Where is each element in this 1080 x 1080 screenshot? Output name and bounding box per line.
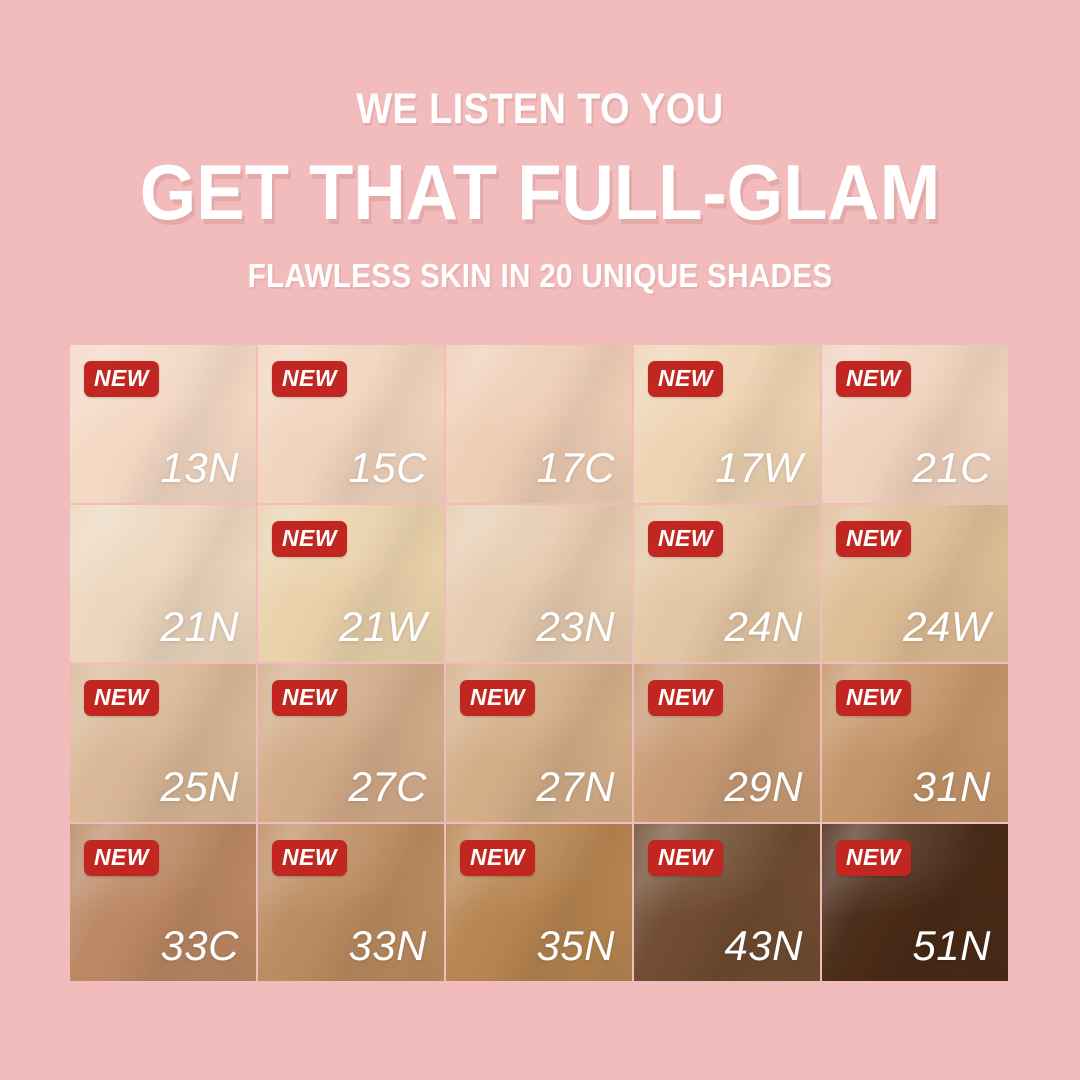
shade-label: 29N [724, 766, 803, 808]
shade-swatch[interactable]: 23N [446, 505, 632, 663]
shade-swatch[interactable]: NEW27N [446, 664, 632, 822]
shade-swatch[interactable]: NEW43N [634, 824, 820, 982]
shade-swatch[interactable]: NEW25N [70, 664, 256, 822]
shade-swatch[interactable]: NEW33N [258, 824, 444, 982]
new-badge: NEW [272, 361, 347, 397]
promo-header: WE LISTEN TO YOU GET THAT FULL-GLAM FLAW… [0, 0, 1080, 292]
new-badge: NEW [272, 680, 347, 716]
shade-swatch[interactable]: 21N [70, 505, 256, 663]
shade-label: 35N [536, 925, 615, 967]
new-badge: NEW [272, 840, 347, 876]
shade-swatch[interactable]: 17C [446, 345, 632, 503]
new-badge: NEW [84, 361, 159, 397]
new-badge: NEW [836, 521, 911, 557]
shade-label: 17C [536, 447, 615, 489]
shade-swatch[interactable]: NEW24N [634, 505, 820, 663]
shade-swatch[interactable]: NEW17W [634, 345, 820, 503]
new-badge: NEW [648, 840, 723, 876]
shade-label: 33C [160, 925, 239, 967]
shade-label: 33N [348, 925, 427, 967]
shade-swatch[interactable]: NEW31N [822, 664, 1008, 822]
shade-label: 31N [912, 766, 991, 808]
new-badge: NEW [648, 680, 723, 716]
shade-swatch[interactable]: NEW51N [822, 824, 1008, 982]
shade-label: 24W [903, 606, 991, 648]
new-badge: NEW [272, 521, 347, 557]
shade-label: 51N [912, 925, 991, 967]
header-headline: GET THAT FULL-GLAM [38, 153, 1042, 231]
shade-swatch[interactable]: NEW33C [70, 824, 256, 982]
header-eyebrow: WE LISTEN TO YOU [65, 88, 1015, 131]
shade-swatch[interactable]: NEW24W [822, 505, 1008, 663]
shade-swatch[interactable]: NEW15C [258, 345, 444, 503]
shade-label: 13N [160, 447, 239, 489]
new-badge: NEW [836, 361, 911, 397]
shade-swatch[interactable]: NEW21W [258, 505, 444, 663]
new-badge: NEW [84, 840, 159, 876]
shade-label: 21C [912, 447, 991, 489]
shade-swatch-grid: NEW13NNEW15C17CNEW17WNEW21C21NNEW21W23NN… [70, 345, 1008, 981]
shade-swatch[interactable]: NEW21C [822, 345, 1008, 503]
shade-label: 15C [348, 447, 427, 489]
new-badge: NEW [648, 361, 723, 397]
shade-swatch[interactable]: NEW35N [446, 824, 632, 982]
shade-label: 43N [724, 925, 803, 967]
new-badge: NEW [836, 680, 911, 716]
shade-label: 21N [160, 606, 239, 648]
shade-swatch[interactable]: NEW27C [258, 664, 444, 822]
shade-label: 23N [536, 606, 615, 648]
new-badge: NEW [648, 521, 723, 557]
new-badge: NEW [836, 840, 911, 876]
shade-swatch[interactable]: NEW29N [634, 664, 820, 822]
shade-swatch[interactable]: NEW13N [70, 345, 256, 503]
new-badge: NEW [460, 840, 535, 876]
shade-label: 21W [339, 606, 427, 648]
shade-label: 17W [715, 447, 803, 489]
header-subline: FLAWLESS SKIN IN 20 UNIQUE SHADES [54, 259, 1026, 292]
shade-label: 27N [536, 766, 615, 808]
shade-label: 25N [160, 766, 239, 808]
shade-label: 27C [348, 766, 427, 808]
new-badge: NEW [84, 680, 159, 716]
new-badge: NEW [460, 680, 535, 716]
shade-label: 24N [724, 606, 803, 648]
